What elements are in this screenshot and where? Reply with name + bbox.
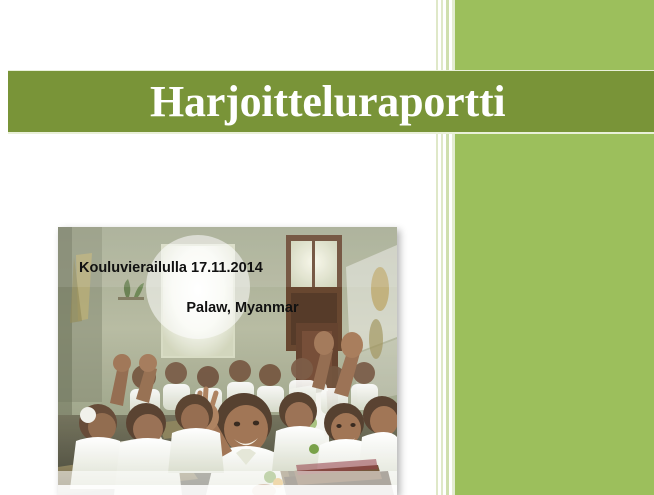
title-banner: Harjoitteluraportti	[8, 70, 654, 134]
photo-frame[interactable]: Kouluvierailulla 17.11.2014 Palaw, Myanm…	[58, 227, 397, 495]
slide-title: Harjoitteluraportti	[8, 80, 505, 124]
presentation-slide: Harjoitteluraportti	[0, 0, 654, 495]
photo-caption-line-2: Palaw, Myanmar	[58, 300, 397, 316]
photo-caption-line-1: Kouluvierailulla 17.11.2014	[79, 260, 397, 276]
